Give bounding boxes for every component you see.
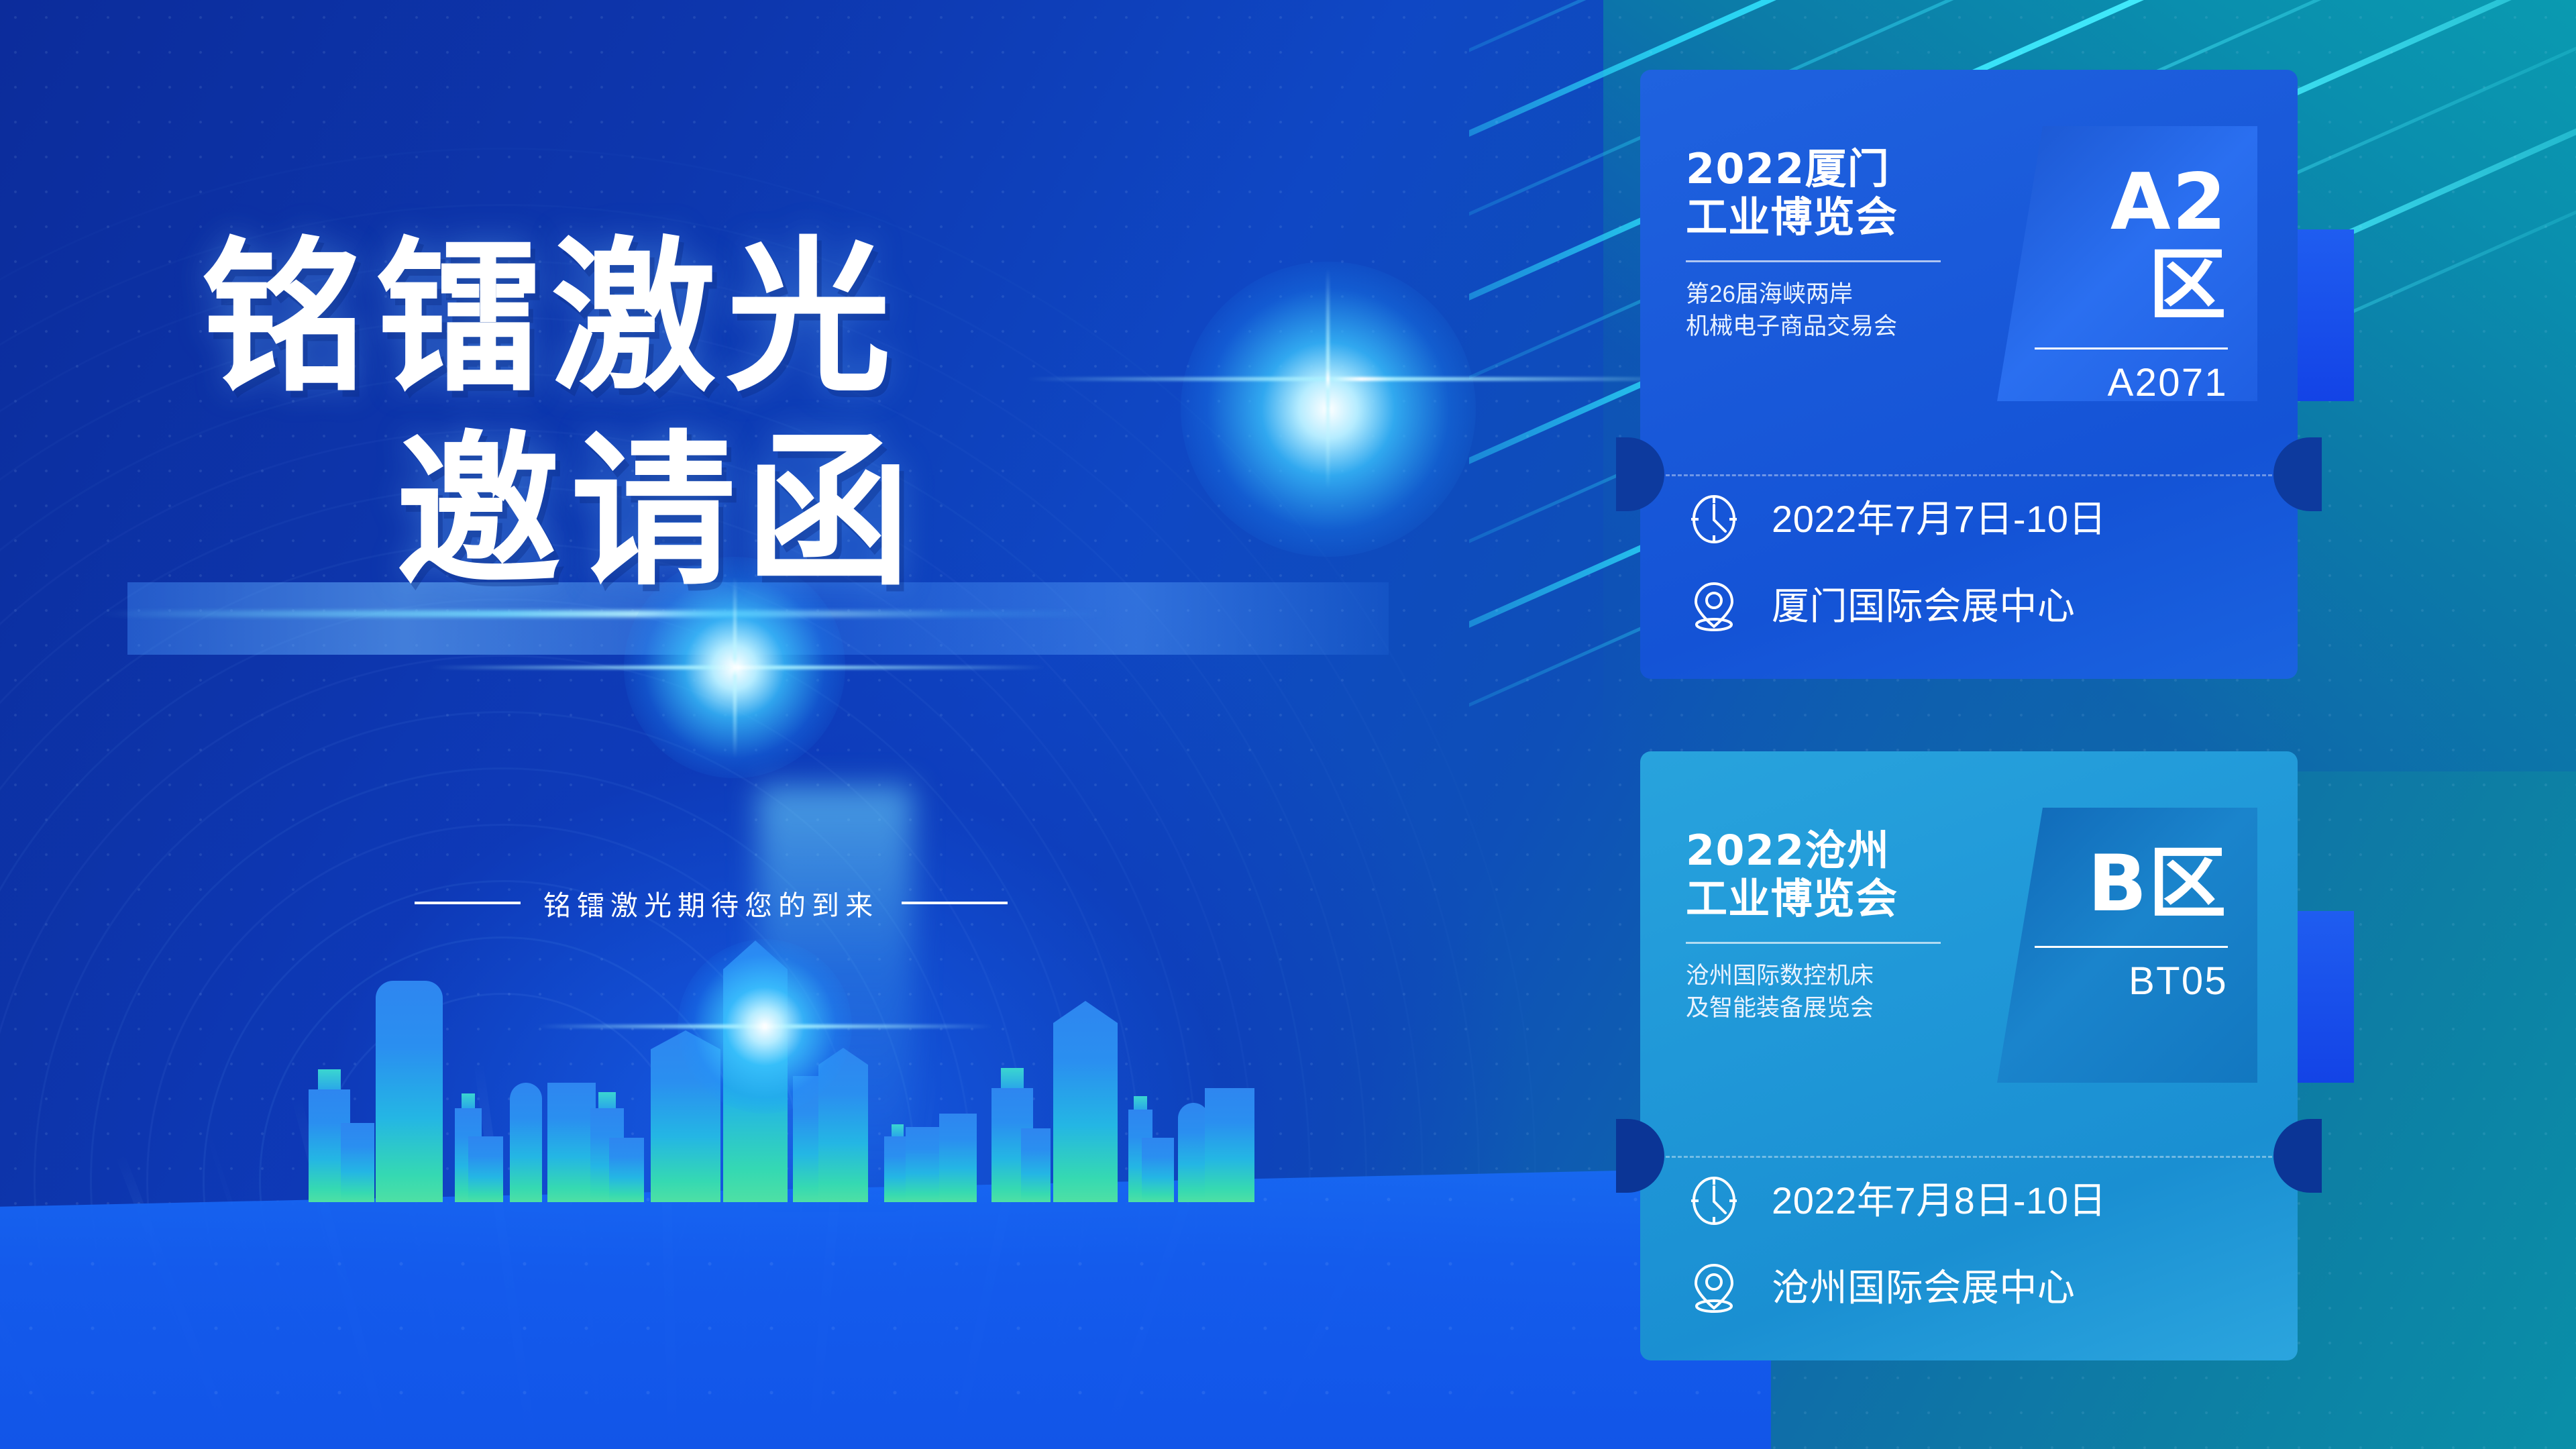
skyline-building [1021,1128,1051,1202]
zone-divider-xiamen [2035,347,2228,350]
skyline-building [1053,1001,1118,1202]
skyline-building-cap [462,1093,475,1108]
title-flare-bar [101,610,1107,617]
venue-row-cangzhou: 沧州国际会展中心 [1687,1261,2075,1315]
event-title-line2-xiamen: 工业博览会 [1686,193,2001,241]
event-date-xiamen: 2022年7月7日-10日 [1772,499,2106,539]
event-divider-xiamen [1686,260,1941,262]
hero-title-line-2: 邀请函 [0,425,1422,600]
map-pin-icon [1687,1261,1741,1315]
zone-code-cangzhou: B区 [2035,843,2228,926]
event-subtitle-line2-xiamen: 机械电子商品交易会 [1686,311,2001,343]
zone-badge-content-cangzhou: B区 BT05 [2035,843,2228,1003]
skyline-building [510,1083,542,1202]
poster-canvas: 铭镭激光 邀请函 铭镭激光期待您的到来 2022厦门 工业博览会 第26届海峡两… [0,0,2576,1449]
skyline-building-cap [1001,1068,1024,1088]
event-info-cangzhou: 2022沧州 工业博览会 沧州国际数控机床 及智能装备展览会 [1686,826,2001,1024]
event-subtitle-line1-cangzhou: 沧州国际数控机床 [1686,960,2001,992]
map-pin-icon [1687,580,1741,633]
card-bottom-section-cangzhou: 2022年7月8日-10日 沧州国际会展中心 [1640,1124,2298,1360]
zone-badge-cangzhou: B区 BT05 [1989,808,2257,1083]
skyline-building [609,1138,644,1202]
ticket-card-cangzhou[interactable]: 2022沧州 工业博览会 沧州国际数控机床 及智能装备展览会 B区 BT05 [1640,751,2298,1360]
skyline-building [341,1123,374,1202]
event-venue-cangzhou: 沧州国际会展中心 [1772,1268,2075,1308]
tagline-text: 铭镭激光期待您的到来 [543,883,879,923]
card-top-section-xiamen: 2022厦门 工业博览会 第26届海峡两岸 机械电子商品交易会 A2区 A207… [1640,70,2298,443]
event-title-line1-xiamen: 2022厦门 [1686,145,2001,193]
card-bottom-section-xiamen: 2022年7月7日-10日 厦门国际会展中心 [1640,443,2298,679]
zone-code-xiamen: A2区 [2035,161,2228,327]
event-subtitle-line1-xiamen: 第26届海峡两岸 [1686,278,2001,311]
event-title-line1-cangzhou: 2022沧州 [1686,826,2001,875]
clock-icon [1687,492,1741,546]
hero-tagline: 铭镭激光期待您的到来 [0,883,1422,923]
hero-title-group: 铭镭激光 邀请函 [0,235,1422,600]
event-divider-cangzhou [1686,942,1941,944]
event-subtitle-line2-cangzhou: 及智能装备展览会 [1686,992,2001,1024]
skyline-building [468,1136,503,1202]
card-top-section-cangzhou: 2022沧州 工业博览会 沧州国际数控机床 及智能装备展览会 B区 BT05 [1640,751,2298,1124]
event-info-xiamen: 2022厦门 工业博览会 第26届海峡两岸 机械电子商品交易会 [1686,145,2001,343]
event-date-cangzhou: 2022年7月8日-10日 [1772,1181,2106,1221]
ticket-card-xiamen[interactable]: 2022厦门 工业博览会 第26届海峡两岸 机械电子商品交易会 A2区 A207… [1640,70,2298,679]
card-perforation-cangzhou [1666,1156,2272,1158]
skyline-building-cap [318,1069,341,1089]
booth-number-cangzhou: BT05 [2035,960,2228,1003]
tagline-rule-right [902,902,1008,904]
event-venue-xiamen: 厦门国际会展中心 [1772,586,2075,627]
skyline-building [1142,1138,1174,1202]
booth-number-xiamen: A2071 [2035,362,2228,405]
tagline-rule-left [415,902,521,904]
lens-flare-mid-streak-h [429,665,1046,669]
skyline-building [1205,1088,1254,1202]
skyline-building [376,981,443,1202]
background-ground-dots [0,1167,1771,1449]
skyline-building-cap [598,1092,616,1108]
skyline-building-cap [1134,1096,1147,1110]
venue-row-xiamen: 厦门国际会展中心 [1687,580,2075,633]
lens-flare-skyline-streak-h [537,1024,993,1028]
zone-divider-cangzhou [2035,946,2228,948]
skyline-building [547,1083,596,1202]
zone-badge-xiamen: A2区 A2071 [1989,126,2257,401]
event-title-line2-cangzhou: 工业博览会 [1686,875,2001,923]
date-row-xiamen: 2022年7月7日-10日 [1687,492,2106,546]
hero-title-line-1: 铭镭激光 [0,235,1422,402]
clock-icon [1687,1174,1741,1228]
zone-badge-content-xiamen: A2区 A2071 [2035,161,2228,405]
skyline-building-cap [892,1124,904,1136]
date-row-cangzhou: 2022年7月8日-10日 [1687,1174,2106,1228]
card-perforation-xiamen [1666,474,2272,476]
skyline-building [939,1114,977,1202]
